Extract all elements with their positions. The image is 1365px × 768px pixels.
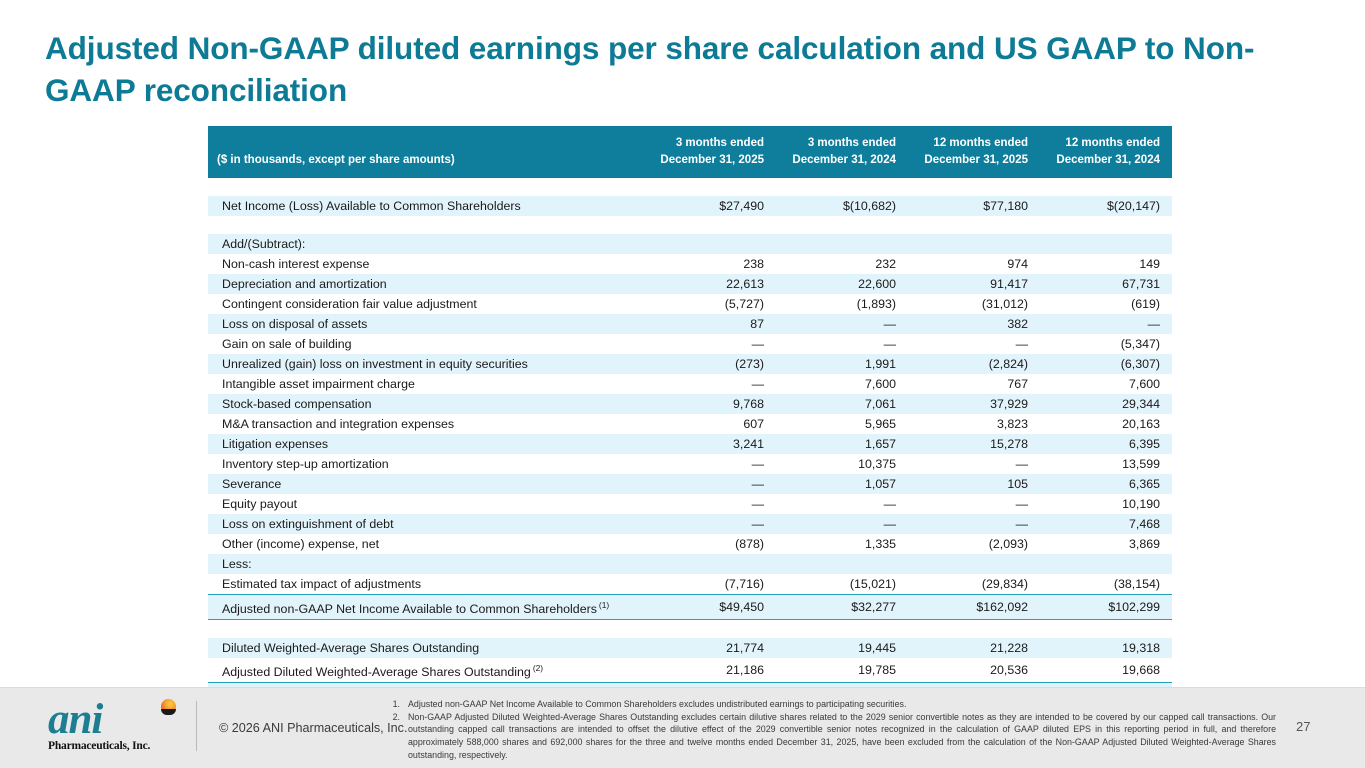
footnote-index: 1. bbox=[386, 698, 408, 711]
page-number: 27 bbox=[1296, 719, 1310, 734]
row-value: — bbox=[908, 334, 1040, 354]
row-value: 19,785 bbox=[776, 658, 908, 683]
row-label: Intangible asset impairment charge bbox=[208, 374, 644, 394]
table-row: Litigation expenses3,2411,65715,2786,395 bbox=[208, 434, 1172, 454]
table-row: Stock-based compensation9,7687,06137,929… bbox=[208, 394, 1172, 414]
row-value: (2,824) bbox=[908, 354, 1040, 374]
row-value: 29,344 bbox=[1040, 394, 1172, 414]
row-label: M&A transaction and integration expenses bbox=[208, 414, 644, 434]
row-value: — bbox=[776, 314, 908, 334]
row-value: 232 bbox=[776, 254, 908, 274]
row-value: (619) bbox=[1040, 294, 1172, 314]
table-row: Severance—1,0571056,365 bbox=[208, 474, 1172, 494]
row-value: $102,299 bbox=[1040, 595, 1172, 620]
page-title: Adjusted Non-GAAP diluted earnings per s… bbox=[45, 28, 1285, 112]
row-value: (6,307) bbox=[1040, 354, 1172, 374]
footnote-text: Non-GAAP Adjusted Diluted Weighted-Avera… bbox=[408, 711, 1276, 762]
row-value: 7,061 bbox=[776, 394, 908, 414]
row-label: Depreciation and amortization bbox=[208, 274, 644, 294]
row-label: Estimated tax impact of adjustments bbox=[208, 574, 644, 595]
row-value: 1,057 bbox=[776, 474, 908, 494]
row-label: Contingent consideration fair value adju… bbox=[208, 294, 644, 314]
table-spacer-row bbox=[208, 620, 1172, 638]
table-row: Estimated tax impact of adjustments(7,71… bbox=[208, 574, 1172, 595]
table-header: ($ in thousands, except per share amount… bbox=[208, 126, 1172, 178]
footer-divider bbox=[196, 701, 197, 751]
row-value: 6,365 bbox=[1040, 474, 1172, 494]
row-value: (31,012) bbox=[908, 294, 1040, 314]
row-label: Unrealized (gain) loss on investment in … bbox=[208, 354, 644, 374]
slide: Adjusted Non-GAAP diluted earnings per s… bbox=[0, 0, 1365, 768]
row-value: (38,154) bbox=[1040, 574, 1172, 595]
row-value: 22,600 bbox=[776, 274, 908, 294]
row-value: $32,277 bbox=[776, 595, 908, 620]
table-row: Intangible asset impairment charge—7,600… bbox=[208, 374, 1172, 394]
row-value: 238 bbox=[644, 254, 776, 274]
table-row: Loss on extinguishment of debt———7,468 bbox=[208, 514, 1172, 534]
footnote-marker: (2) bbox=[533, 663, 543, 673]
table-row: Loss on disposal of assets87—382— bbox=[208, 314, 1172, 334]
row-value: (5,347) bbox=[1040, 334, 1172, 354]
row-value: 22,613 bbox=[644, 274, 776, 294]
logo-subtext: Pharmaceuticals, Inc. bbox=[48, 740, 188, 752]
row-value: 5,965 bbox=[776, 414, 908, 434]
row-value: (273) bbox=[644, 354, 776, 374]
row-value: — bbox=[908, 494, 1040, 514]
row-value bbox=[1040, 234, 1172, 254]
table-row: Gain on sale of building———(5,347) bbox=[208, 334, 1172, 354]
row-value: (878) bbox=[644, 534, 776, 554]
row-value: — bbox=[644, 374, 776, 394]
row-value: 10,375 bbox=[776, 454, 908, 474]
row-label: Other (income) expense, net bbox=[208, 534, 644, 554]
row-label: Loss on disposal of assets bbox=[208, 314, 644, 334]
table-row: Non-cash interest expense238232974149 bbox=[208, 254, 1172, 274]
row-value: 21,186 bbox=[644, 658, 776, 683]
row-value: 3,869 bbox=[1040, 534, 1172, 554]
footnote-item: 2.Non-GAAP Adjusted Diluted Weighted-Ave… bbox=[386, 711, 1276, 762]
row-value: 37,929 bbox=[908, 394, 1040, 414]
table-body: Net Income (Loss) Available to Common Sh… bbox=[208, 178, 1172, 703]
row-value: 974 bbox=[908, 254, 1040, 274]
row-value: 15,278 bbox=[908, 434, 1040, 454]
row-value: $77,180 bbox=[908, 196, 1040, 216]
row-value: — bbox=[908, 514, 1040, 534]
row-value: (7,716) bbox=[644, 574, 776, 595]
logo-wordmark: ani bbox=[48, 698, 188, 742]
logo-sunrise-dot-icon bbox=[161, 699, 176, 714]
row-label: Net Income (Loss) Available to Common Sh… bbox=[208, 196, 644, 216]
row-value: (5,727) bbox=[644, 294, 776, 314]
spacer-cell bbox=[208, 620, 1172, 638]
row-value: $49,450 bbox=[644, 595, 776, 620]
row-label: Adjusted Diluted Weighted-Average Shares… bbox=[208, 658, 644, 683]
row-value: 6,395 bbox=[1040, 434, 1172, 454]
row-label: Stock-based compensation bbox=[208, 394, 644, 414]
row-value: 1,991 bbox=[776, 354, 908, 374]
row-label: Gain on sale of building bbox=[208, 334, 644, 354]
table-row: Depreciation and amortization22,61322,60… bbox=[208, 274, 1172, 294]
row-value: — bbox=[1040, 314, 1172, 334]
footnote-marker: (1) bbox=[599, 600, 609, 610]
row-value: — bbox=[644, 494, 776, 514]
footnote-index: 2. bbox=[386, 711, 408, 762]
ani-logo: ani Pharmaceuticals, Inc. bbox=[48, 698, 188, 756]
row-value: 21,774 bbox=[644, 638, 776, 658]
row-value: 1,335 bbox=[776, 534, 908, 554]
row-value: $162,092 bbox=[908, 595, 1040, 620]
row-value: 20,536 bbox=[908, 658, 1040, 683]
table-row: Add/(Subtract): bbox=[208, 234, 1172, 254]
row-label: Inventory step-up amortization bbox=[208, 454, 644, 474]
table-row: Diluted Weighted-Average Shares Outstand… bbox=[208, 638, 1172, 658]
row-value: 19,445 bbox=[776, 638, 908, 658]
row-value: 3,241 bbox=[644, 434, 776, 454]
row-value: 7,600 bbox=[776, 374, 908, 394]
table-row: Other (income) expense, net(878)1,335(2,… bbox=[208, 534, 1172, 554]
table-row: M&A transaction and integration expenses… bbox=[208, 414, 1172, 434]
row-value bbox=[644, 234, 776, 254]
row-value: 13,599 bbox=[1040, 454, 1172, 474]
row-value: 382 bbox=[908, 314, 1040, 334]
row-value: 149 bbox=[1040, 254, 1172, 274]
row-value: 19,318 bbox=[1040, 638, 1172, 658]
row-value bbox=[908, 554, 1040, 574]
row-value: — bbox=[776, 514, 908, 534]
spacer-cell bbox=[208, 178, 1172, 196]
row-value: 9,768 bbox=[644, 394, 776, 414]
footnote-text: Adjusted non-GAAP Net Income Available t… bbox=[408, 698, 1276, 711]
row-value: $(20,147) bbox=[1040, 196, 1172, 216]
column-header-fy-2024: 12 months ended December 31, 2024 bbox=[1040, 126, 1172, 178]
row-value: (15,021) bbox=[776, 574, 908, 595]
row-label: Loss on extinguishment of debt bbox=[208, 514, 644, 534]
row-value: — bbox=[644, 454, 776, 474]
table-row: Net Income (Loss) Available to Common Sh… bbox=[208, 196, 1172, 216]
row-value: 3,823 bbox=[908, 414, 1040, 434]
row-value: 87 bbox=[644, 314, 776, 334]
copyright-text: © 2026 ANI Pharmaceuticals, Inc. bbox=[219, 721, 407, 735]
row-value: $(10,682) bbox=[776, 196, 908, 216]
row-value bbox=[1040, 554, 1172, 574]
row-value: (1,893) bbox=[776, 294, 908, 314]
row-value: 19,668 bbox=[1040, 658, 1172, 683]
spacer-cell bbox=[208, 216, 1172, 234]
row-value: 21,228 bbox=[908, 638, 1040, 658]
row-value: 20,163 bbox=[1040, 414, 1172, 434]
table-spacer-row bbox=[208, 216, 1172, 234]
footnotes: 1.Adjusted non-GAAP Net Income Available… bbox=[386, 698, 1276, 761]
table-row: Inventory step-up amortization—10,375—13… bbox=[208, 454, 1172, 474]
row-value: — bbox=[776, 494, 908, 514]
logo-wordmark-text: ani bbox=[48, 696, 102, 743]
row-value bbox=[776, 554, 908, 574]
table-total-row: Adjusted non-GAAP Net Income Available t… bbox=[208, 595, 1172, 620]
reconciliation-table: ($ in thousands, except per share amount… bbox=[208, 126, 1172, 704]
row-value: 767 bbox=[908, 374, 1040, 394]
row-value: — bbox=[644, 474, 776, 494]
row-label: Litigation expenses bbox=[208, 434, 644, 454]
column-header-fy-2025: 12 months ended December 31, 2025 bbox=[908, 126, 1040, 178]
column-header-q4-2025: 3 months ended December 31, 2025 bbox=[644, 126, 776, 178]
row-value: $27,490 bbox=[644, 196, 776, 216]
row-value bbox=[908, 234, 1040, 254]
table-spacer-row bbox=[208, 178, 1172, 196]
row-value bbox=[776, 234, 908, 254]
table-row: Adjusted Diluted Weighted-Average Shares… bbox=[208, 658, 1172, 683]
footnote-item: 1.Adjusted non-GAAP Net Income Available… bbox=[386, 698, 1276, 711]
table-row: Less: bbox=[208, 554, 1172, 574]
column-header-label: ($ in thousands, except per share amount… bbox=[208, 126, 644, 178]
row-value: — bbox=[776, 334, 908, 354]
row-value: — bbox=[644, 334, 776, 354]
row-value: 91,417 bbox=[908, 274, 1040, 294]
row-value: 607 bbox=[644, 414, 776, 434]
row-label: Add/(Subtract): bbox=[208, 234, 644, 254]
table-row: Contingent consideration fair value adju… bbox=[208, 294, 1172, 314]
table-header-row: ($ in thousands, except per share amount… bbox=[208, 126, 1172, 178]
row-value: 7,468 bbox=[1040, 514, 1172, 534]
row-label: Severance bbox=[208, 474, 644, 494]
row-value: (29,834) bbox=[908, 574, 1040, 595]
row-value: 67,731 bbox=[1040, 274, 1172, 294]
row-value: 1,657 bbox=[776, 434, 908, 454]
table-row: Equity payout———10,190 bbox=[208, 494, 1172, 514]
row-value: 7,600 bbox=[1040, 374, 1172, 394]
row-value bbox=[644, 554, 776, 574]
row-label: Less: bbox=[208, 554, 644, 574]
row-value: 105 bbox=[908, 474, 1040, 494]
row-label: Adjusted non-GAAP Net Income Available t… bbox=[208, 595, 644, 620]
row-value: — bbox=[908, 454, 1040, 474]
row-value: 10,190 bbox=[1040, 494, 1172, 514]
row-label: Diluted Weighted-Average Shares Outstand… bbox=[208, 638, 644, 658]
column-header-q4-2024: 3 months ended December 31, 2024 bbox=[776, 126, 908, 178]
table-row: Unrealized (gain) loss on investment in … bbox=[208, 354, 1172, 374]
row-value: (2,093) bbox=[908, 534, 1040, 554]
row-label: Equity payout bbox=[208, 494, 644, 514]
row-label: Non-cash interest expense bbox=[208, 254, 644, 274]
row-value: — bbox=[644, 514, 776, 534]
